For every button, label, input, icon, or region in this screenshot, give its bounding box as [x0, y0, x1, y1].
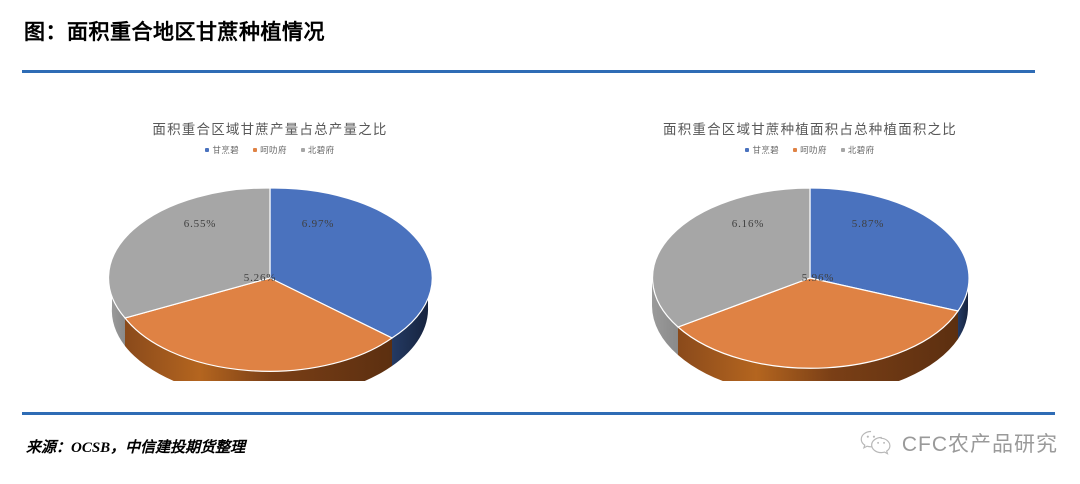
pie-data-label-orange: 5.96%: [802, 272, 834, 284]
legend-swatch-blue-icon: [205, 148, 209, 152]
chart-title: 面积重合区域甘蔗产量占总产量之比: [0, 118, 540, 138]
legend-label: 北碧府: [308, 144, 335, 156]
pie-data-label-blue: 6.97%: [302, 218, 334, 230]
pie-data-label-gray: 6.55%: [184, 218, 216, 230]
chart-panel-area: 面积重合区域甘蔗种植面积占总种植面积之比 甘烹碧 呵叻府 北碧府: [540, 78, 1080, 408]
pie-chart-production: 6.97% 5.26% 6.55%: [100, 166, 440, 381]
legend-swatch-orange-icon: [253, 148, 257, 152]
legend-label: 甘烹碧: [212, 144, 239, 156]
wechat-icon: [860, 428, 894, 458]
chart-legend: 甘烹碧 呵叻府 北碧府: [0, 144, 540, 156]
legend-label: 呵叻府: [260, 144, 287, 156]
legend-label: 甘烹碧: [752, 144, 779, 156]
legend-item-nakhonratchasima[interactable]: 呵叻府: [253, 144, 287, 156]
chart-legend: 甘烹碧 呵叻府 北碧府: [540, 144, 1080, 156]
header-divider: [22, 70, 1035, 73]
legend-item-kanchanaburi[interactable]: 北碧府: [841, 144, 875, 156]
pie-data-label-gray: 6.16%: [732, 218, 764, 230]
legend-swatch-blue-icon: [745, 148, 749, 152]
source-note: 来源：OCSB，中信建投期货整理: [26, 436, 245, 457]
legend-item-nakhonratchasima[interactable]: 呵叻府: [793, 144, 827, 156]
brand-name: CFC农产品研究: [902, 428, 1058, 458]
chart-title: 面积重合区域甘蔗种植面积占总种植面积之比: [540, 118, 1080, 138]
page-title: 图：面积重合地区甘蔗种植情况: [24, 16, 325, 46]
legend-item-kamphaengphet[interactable]: 甘烹碧: [745, 144, 779, 156]
legend-label: 呵叻府: [800, 144, 827, 156]
chart-panel-production: 面积重合区域甘蔗产量占总产量之比 甘烹碧 呵叻府 北碧府: [0, 78, 540, 408]
legend-swatch-orange-icon: [793, 148, 797, 152]
pie-data-label-orange: 5.26%: [244, 272, 276, 284]
brand-watermark: CFC农产品研究: [860, 428, 1058, 458]
legend-swatch-gray-icon: [841, 148, 845, 152]
legend-label: 北碧府: [848, 144, 875, 156]
legend-item-kanchanaburi[interactable]: 北碧府: [301, 144, 335, 156]
pie-chart-area: 5.87% 5.96% 6.16%: [640, 166, 980, 381]
legend-swatch-gray-icon: [301, 148, 305, 152]
charts-container: 面积重合区域甘蔗产量占总产量之比 甘烹碧 呵叻府 北碧府: [0, 78, 1080, 408]
legend-item-kamphaengphet[interactable]: 甘烹碧: [205, 144, 239, 156]
pie-data-label-blue: 5.87%: [852, 218, 884, 230]
footer-divider: [22, 412, 1055, 415]
